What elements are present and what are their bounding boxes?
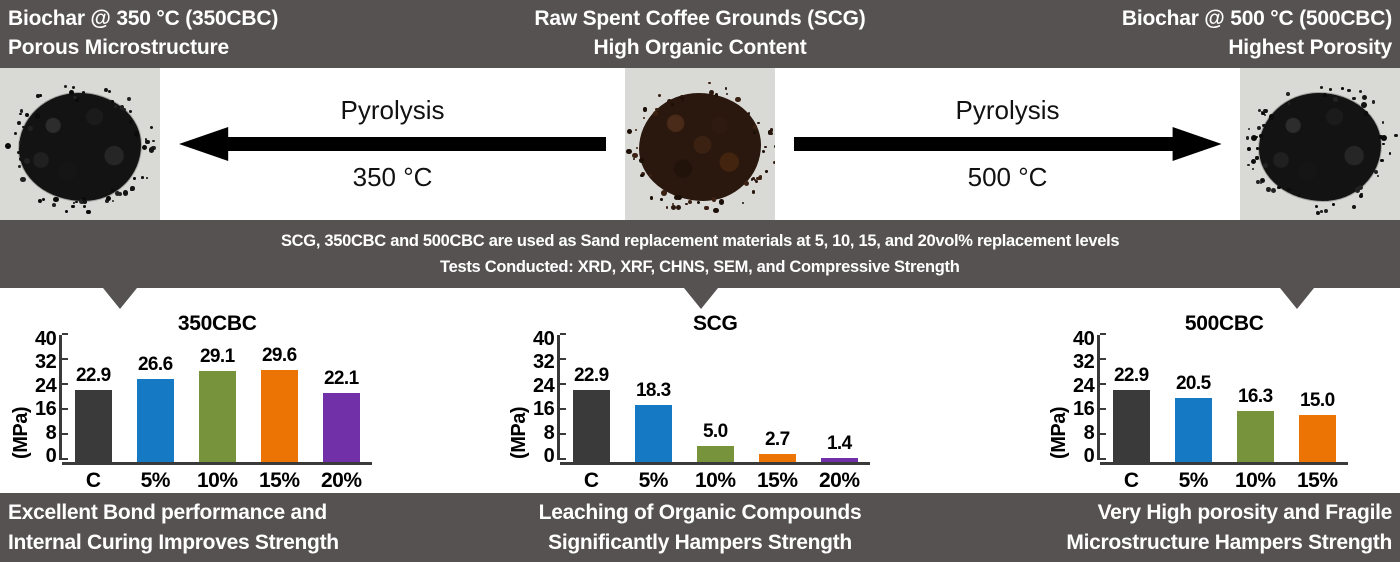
chart-slot-500cbc: (MPa)4032241680500CBC22.920.516.315.0C5%…	[940, 288, 1400, 493]
powder-speck	[1266, 187, 1271, 192]
bar-group[interactable]: 5.0	[684, 337, 746, 462]
bar-value-label: 1.4	[808, 433, 870, 455]
pyrolysis-500-label: Pyrolysis	[955, 96, 1059, 125]
powder-speck	[112, 200, 114, 202]
powder-speck	[111, 189, 114, 192]
powder-speck	[25, 113, 29, 117]
black-powder-pile-photo	[19, 93, 141, 201]
bar-group[interactable]: 22.1	[310, 337, 372, 462]
powder-speck	[770, 128, 774, 132]
x-axis-labels: C5%10%15%20%	[560, 465, 870, 493]
powder-speck	[1271, 188, 1276, 193]
powder-speck	[1372, 100, 1376, 104]
footer-scg-line2: Significantly Hampers Strength	[548, 528, 852, 557]
bars-container: 22.920.516.315.0	[1100, 340, 1348, 465]
y-axis-tick-label: 24	[533, 382, 554, 390]
powder-speck	[39, 181, 44, 186]
powder-speck	[1277, 186, 1281, 190]
powder-speck	[149, 147, 155, 153]
powder-speck	[1256, 147, 1259, 150]
powder-speck	[19, 141, 22, 144]
y-axis-tick-label: 16	[533, 405, 554, 413]
powder-speck	[769, 132, 773, 136]
y-axis-tick-label: 8	[533, 429, 554, 437]
bar-value-label: 2.7	[746, 429, 808, 451]
powder-speck	[1248, 128, 1250, 130]
powder-speck	[697, 201, 700, 204]
y-axis-ticks: 4032241680	[1073, 335, 1097, 460]
bar[interactable]	[1113, 390, 1150, 462]
footer-350cbc-line2: Internal Curing Improves Strength	[8, 528, 339, 557]
powder-speck	[1269, 170, 1273, 174]
powder-speck	[1257, 126, 1261, 130]
powder-speck	[640, 174, 644, 178]
powder-speck	[632, 153, 637, 158]
powder-speck	[1361, 102, 1367, 108]
powder-speck	[1352, 97, 1355, 100]
powder-speck	[1286, 92, 1290, 96]
powder-speck	[1381, 135, 1387, 141]
bar-value-label: 5.0	[684, 421, 746, 443]
powder-speck	[83, 200, 87, 204]
x-axis-labels: C5%10%15%	[1100, 465, 1348, 493]
bar[interactable]	[821, 458, 858, 462]
powder-speck	[1394, 134, 1398, 138]
powder-speck	[666, 206, 668, 208]
header-500cbc-title: Biochar @ 500 °C (500CBC)	[1122, 5, 1392, 34]
powder-speck	[69, 90, 74, 95]
powder-speck	[709, 90, 714, 95]
bar-value-label: 18.3	[622, 380, 684, 402]
chart-scg: (MPa)4032241680SCG22.918.35.02.71.4C5%10…	[508, 314, 870, 493]
powder-speck	[1329, 88, 1332, 91]
powder-speck	[1374, 170, 1378, 174]
bar-group[interactable]: 16.3	[1224, 337, 1286, 462]
powder-speck	[1382, 121, 1385, 124]
chart-title: 350CBC	[62, 312, 372, 336]
powder-speck	[134, 131, 139, 136]
y-axis-label: (MPa)	[10, 407, 33, 459]
pyrolysis-350-temperature: 350 °C	[353, 163, 433, 192]
bar-group[interactable]: 29.1	[186, 337, 248, 462]
powder-speck	[1263, 163, 1268, 168]
powder-speck	[1315, 205, 1319, 209]
y-axis-tick-label: 40	[1073, 335, 1094, 343]
powder-speck	[1347, 89, 1350, 92]
chart-row: (MPa)4032241680350CBC22.926.629.129.622.…	[0, 288, 1400, 493]
bar[interactable]	[573, 390, 610, 462]
powder-speck	[82, 91, 85, 94]
powder-speck	[715, 93, 719, 97]
powder-speck	[122, 114, 128, 120]
powder-speck	[658, 94, 662, 98]
powder-speck	[1247, 147, 1251, 151]
powder-speck	[765, 170, 767, 172]
powder-speck	[1333, 97, 1338, 102]
powder-speck	[1382, 143, 1384, 145]
powder-speck	[129, 120, 132, 123]
chart-title: SCG	[560, 312, 870, 336]
powder-speck	[639, 158, 644, 163]
powder-speck	[633, 158, 635, 160]
powder-speck	[130, 186, 134, 190]
powder-speck	[1324, 209, 1328, 213]
powder-speck	[759, 175, 762, 178]
y-axis-label: (MPa)	[508, 407, 531, 459]
powder-speck	[141, 176, 144, 179]
powder-speck	[1264, 141, 1269, 146]
bar-group[interactable]: 1.4	[808, 337, 870, 462]
bar-value-label: 22.9	[62, 365, 124, 387]
header-scg-subtitle: High Organic Content	[594, 34, 807, 63]
pyrolysis-process-row: Pyrolysis 350 °C Pyrolysis 500 °C	[0, 68, 1400, 220]
bar-value-label: 15.0	[1286, 390, 1348, 412]
powder-speck	[127, 97, 131, 101]
bar-value-label: 16.3	[1224, 386, 1286, 408]
powder-speck	[1389, 152, 1392, 155]
bar[interactable]	[1237, 411, 1274, 462]
pyrolysis-350-label: Pyrolysis	[340, 96, 444, 125]
powder-speck	[42, 198, 45, 201]
powder-speck	[1355, 187, 1360, 192]
y-axis-tick-label: 16	[1073, 405, 1094, 413]
bars-container: 22.926.629.129.622.1	[62, 340, 372, 465]
powder-speck	[1287, 188, 1291, 192]
powder-speck	[1312, 97, 1317, 102]
plot-area: 500CBC22.920.516.315.0C5%10%15%	[1100, 314, 1348, 493]
powder-speck	[650, 196, 654, 200]
powder-speck	[688, 200, 692, 204]
powder-speck	[753, 131, 755, 133]
powder-speck	[643, 117, 645, 119]
powder-speck	[1246, 136, 1249, 139]
powder-speck	[28, 126, 33, 131]
bar[interactable]	[137, 379, 174, 462]
bar-group[interactable]: 2.7	[746, 337, 808, 462]
y-axis-tick-label: 24	[35, 382, 56, 390]
y-axis-tick-label: 40	[533, 335, 554, 343]
info-replacement-levels: SCG, 350CBC and 500CBC are used as Sand …	[281, 228, 1119, 254]
y-axis-label: (MPa)	[1048, 407, 1071, 459]
y-axis-ticks: 4032241680	[35, 335, 59, 460]
powder-speck	[1320, 86, 1323, 89]
pyrolysis-350-arrow-group: Pyrolysis 350 °C	[160, 68, 625, 220]
bar-group[interactable]: 26.6	[124, 337, 186, 462]
powder-speck	[1261, 179, 1263, 181]
chart-500cbc: (MPa)4032241680500CBC22.920.516.315.0C5%…	[1048, 314, 1348, 493]
footer-cell-500cbc: Very High porosity and Fragile Microstru…	[933, 493, 1400, 562]
powder-speck	[1359, 194, 1363, 198]
chart-350cbc: (MPa)4032241680350CBC22.926.629.129.622.…	[10, 314, 372, 493]
bar-value-label: 22.9	[1100, 365, 1162, 387]
powder-speck	[145, 140, 150, 145]
powder-speck	[1377, 175, 1379, 177]
powder-speck	[744, 181, 749, 186]
y-axis-tick-label: 8	[1073, 429, 1094, 437]
powder-speck	[1364, 111, 1368, 115]
powder-speck	[627, 129, 632, 134]
right-arrow-icon	[794, 127, 1222, 161]
powder-speck	[653, 111, 658, 116]
powder-speck	[1332, 203, 1335, 206]
powder-speck	[762, 150, 765, 153]
bar-value-label: 26.6	[124, 354, 186, 376]
powder-speck	[1262, 124, 1266, 128]
powder-speck	[142, 145, 147, 150]
powder-speck	[1269, 114, 1275, 120]
bar[interactable]	[635, 405, 672, 462]
chart-title: 500CBC	[1100, 312, 1348, 336]
bar[interactable]	[1299, 415, 1336, 462]
footer-band: Excellent Bond performance and Internal …	[0, 493, 1400, 562]
powder-speck	[1362, 95, 1367, 100]
powder-speck	[1307, 195, 1311, 199]
powder-speck	[753, 125, 756, 128]
bar[interactable]	[697, 446, 734, 462]
powder-speck	[1256, 180, 1260, 184]
bar-group[interactable]: 22.9	[62, 337, 124, 462]
powder-speck	[674, 195, 679, 200]
bar-value-label: 22.9	[560, 365, 622, 387]
powder-speck	[17, 121, 21, 125]
powder-speck	[748, 112, 751, 115]
powder-speck	[752, 190, 756, 194]
y-axis-tick-label: 32	[533, 358, 554, 366]
powder-speck	[83, 205, 86, 208]
powder-speck	[123, 190, 128, 195]
powder-speck	[1359, 90, 1362, 93]
y-axis-tick-label: 32	[35, 358, 56, 366]
powder-speck	[73, 202, 75, 204]
powder-speck	[1316, 93, 1320, 97]
powder-speck	[704, 206, 708, 210]
powder-speck	[676, 205, 681, 210]
footer-cell-350cbc: Excellent Bond performance and Internal …	[0, 493, 467, 562]
powder-speck	[719, 199, 724, 204]
y-axis-tick-label: 40	[35, 335, 56, 343]
powder-speck	[52, 203, 56, 207]
bar-group[interactable]: 18.3	[622, 337, 684, 462]
bar[interactable]	[323, 393, 360, 462]
brown-powder-pile-photo	[639, 93, 761, 201]
left-arrow-icon	[179, 127, 607, 161]
powder-speck	[752, 167, 754, 169]
powder-speck	[677, 98, 682, 103]
powder-speck	[685, 203, 687, 205]
powder-speck	[17, 151, 20, 154]
powder-speck	[662, 106, 664, 108]
bar[interactable]	[199, 371, 236, 462]
black-powder-pile-photo-2	[1259, 93, 1381, 201]
bars-container: 22.918.35.02.71.4	[560, 340, 870, 465]
bar-group[interactable]: 22.9	[560, 337, 622, 462]
powder-speck	[1247, 164, 1249, 166]
powder-speck	[636, 147, 638, 149]
header-band: Biochar @ 350 °C (350CBC) Porous Microst…	[0, 0, 1400, 68]
powder-speck	[1316, 211, 1320, 215]
footer-500cbc-line2: Microstructure Hampers Strength	[1066, 528, 1392, 557]
y-axis-tick-label: 8	[35, 429, 56, 437]
x-axis-tick-label: C	[560, 469, 622, 493]
powder-speck	[64, 85, 67, 88]
pyrolysis-500-temperature: 500 °C	[968, 163, 1048, 192]
powder-speck	[19, 113, 21, 115]
powder-speck	[1320, 210, 1323, 213]
powder-speck	[1341, 87, 1344, 90]
pyrolysis-500-arrow-group: Pyrolysis 500 °C	[775, 68, 1240, 220]
header-cell-scg: Raw Spent Coffee Grounds (SCG) High Orga…	[467, 0, 934, 68]
powder-speck	[152, 140, 155, 143]
x-axis-tick-label: 20%	[310, 469, 372, 493]
powder-speck	[36, 94, 40, 98]
x-axis-tick-label: C	[62, 469, 124, 493]
y-axis-tick-label: 0	[1073, 452, 1094, 460]
powder-speck	[73, 96, 77, 100]
x-axis-tick-label: 15%	[1286, 469, 1348, 493]
powder-speck	[725, 87, 728, 90]
powder-speck	[1251, 159, 1256, 164]
powder-speck	[649, 174, 652, 177]
footer-350cbc-line1: Excellent Bond performance and	[8, 498, 327, 527]
powder-speck	[661, 190, 667, 196]
powder-speck	[118, 192, 122, 196]
powder-speck	[1298, 194, 1300, 196]
header-cell-500cbc: Biochar @ 500 °C (500CBC) Highest Porosi…	[933, 0, 1400, 68]
photo-500cbc-biochar	[1240, 68, 1400, 220]
x-axis-tick-label: 5%	[124, 469, 186, 493]
x-axis-labels: C5%10%15%20%	[62, 465, 372, 493]
bar[interactable]	[75, 390, 112, 462]
x-axis-tick-label: 10%	[186, 469, 248, 493]
powder-speck	[671, 205, 676, 210]
x-axis-tick-label: 10%	[684, 469, 746, 493]
bar[interactable]	[261, 370, 298, 463]
header-cell-350cbc: Biochar @ 350 °C (350CBC) Porous Microst…	[0, 0, 467, 68]
bar-group[interactable]: 22.9	[1100, 337, 1162, 462]
bar-group[interactable]: 29.6	[248, 337, 310, 462]
powder-speck	[742, 202, 744, 204]
powder-speck	[643, 107, 648, 112]
powder-speck	[5, 143, 11, 149]
powder-speck	[14, 132, 17, 135]
powder-speck	[1255, 156, 1258, 159]
photo-350cbc-biochar	[0, 68, 160, 220]
footer-cell-scg: Leaching of Organic Compounds Significan…	[467, 493, 934, 562]
powder-speck	[1259, 134, 1263, 138]
powder-speck	[708, 82, 710, 84]
powder-speck	[129, 110, 132, 113]
powder-speck	[726, 93, 728, 95]
photo-raw-scg	[625, 68, 775, 220]
plot-area: 350CBC22.926.629.129.622.1C5%10%15%20%	[62, 314, 372, 493]
bar[interactable]	[1175, 398, 1212, 462]
powder-speck	[18, 165, 21, 168]
powder-speck	[672, 203, 674, 205]
powder-speck	[1323, 93, 1327, 97]
powder-speck	[757, 122, 760, 125]
bar[interactable]	[759, 454, 796, 462]
powder-speck	[133, 177, 136, 180]
bar-group[interactable]: 20.5	[1162, 337, 1224, 462]
x-axis-tick-label: 20%	[808, 469, 870, 493]
chart-slot-scg: (MPa)4032241680SCG22.918.35.02.71.4C5%10…	[420, 288, 940, 493]
header-350cbc-subtitle: Porous Microstructure	[8, 34, 229, 63]
powder-speck	[22, 126, 24, 128]
powder-speck	[712, 197, 716, 201]
powder-speck	[24, 158, 30, 164]
powder-speck	[1352, 205, 1356, 209]
powder-speck	[106, 196, 111, 201]
powder-speck	[626, 149, 631, 154]
chart-slot-350cbc: (MPa)4032241680350CBC22.926.629.129.622.…	[0, 288, 420, 493]
powder-speck	[38, 199, 42, 203]
plot-area: SCG22.918.35.02.71.4C5%10%15%20%	[560, 314, 870, 493]
powder-speck	[53, 197, 58, 202]
x-axis-tick-label: 10%	[1224, 469, 1286, 493]
bar-value-label: 29.1	[186, 346, 248, 368]
x-axis-tick-label: 5%	[1162, 469, 1224, 493]
y-axis-tick-label: 32	[1073, 358, 1094, 366]
powder-speck	[72, 86, 76, 90]
powder-speck	[692, 96, 695, 99]
powder-speck	[660, 198, 663, 201]
x-axis-tick-label: C	[1100, 469, 1162, 493]
powder-speck	[114, 105, 117, 108]
powder-speck	[111, 100, 114, 103]
y-axis-ticks: 4032241680	[533, 335, 557, 460]
footer-500cbc-line1: Very High porosity and Fragile	[1098, 498, 1392, 527]
bar-group[interactable]: 15.0	[1286, 337, 1348, 462]
x-axis-tick-label: 15%	[746, 469, 808, 493]
x-axis-tick-label: 5%	[622, 469, 684, 493]
powder-speck	[104, 88, 108, 92]
powder-speck	[667, 99, 672, 104]
powder-speck	[713, 208, 718, 213]
powder-speck	[150, 126, 153, 129]
powder-speck	[1263, 156, 1267, 160]
bar-value-label: 22.1	[310, 368, 372, 390]
bar-value-label: 20.5	[1162, 373, 1224, 395]
powder-speck	[1252, 168, 1255, 171]
bar-value-label: 29.6	[248, 345, 310, 367]
powder-speck	[735, 97, 741, 103]
graphical-abstract: Biochar @ 350 °C (350CBC) Porous Microst…	[0, 0, 1400, 562]
powder-speck	[1380, 159, 1383, 162]
powder-speck	[75, 201, 78, 204]
powder-speck	[65, 210, 68, 213]
footer-scg-line1: Leaching of Organic Compounds	[539, 498, 862, 527]
info-tests-conducted: Tests Conducted: XRD, XRF, CHNS, SEM, an…	[440, 254, 959, 280]
powder-speck	[764, 146, 766, 148]
x-axis-tick-label: 15%	[248, 469, 310, 493]
powder-speck	[20, 177, 25, 182]
info-band: SCG, 350CBC and 500CBC are used as Sand …	[0, 220, 1400, 288]
header-scg-title: Raw Spent Coffee Grounds (SCG)	[534, 5, 865, 34]
powder-speck	[123, 108, 126, 111]
y-axis-tick-label: 0	[533, 452, 554, 460]
powder-speck	[71, 205, 75, 209]
y-axis-tick-label: 0	[35, 452, 56, 460]
y-axis-tick-label: 16	[35, 405, 56, 413]
powder-speck	[635, 129, 637, 131]
y-axis-tick-label: 24	[1073, 382, 1094, 390]
powder-speck	[35, 113, 41, 119]
powder-speck	[86, 210, 90, 214]
powder-speck	[1326, 197, 1329, 200]
header-500cbc-subtitle: Highest Porosity	[1228, 34, 1392, 63]
header-350cbc-title: Biochar @ 350 °C (350CBC)	[8, 5, 278, 34]
powder-speck	[51, 101, 54, 104]
